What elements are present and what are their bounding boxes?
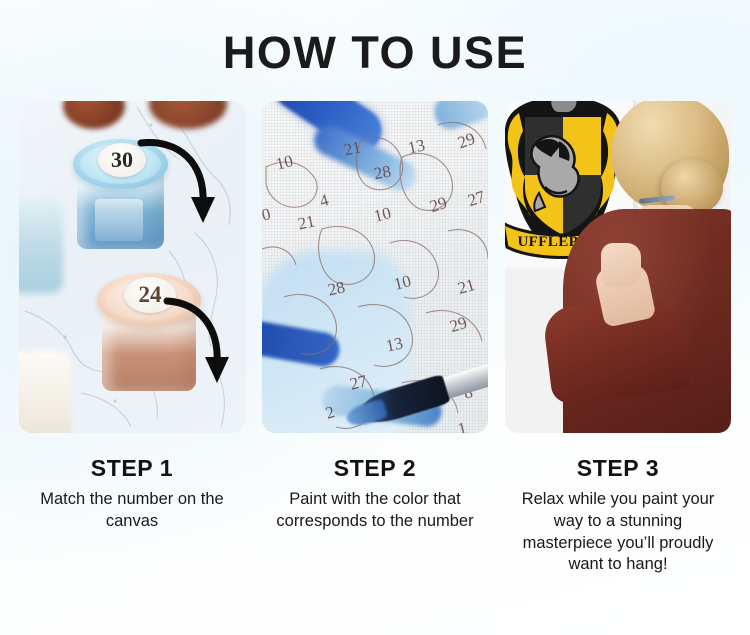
person-hand: [601, 243, 641, 287]
step-2-photo: 10 21 28 13 29 4 10 29 27 21 0 28 10 21 …: [262, 101, 488, 433]
step-3-label: STEP 3: [505, 455, 731, 482]
step-1-label: STEP 1: [19, 455, 245, 482]
blurred-white-pot: [19, 351, 71, 433]
step-card-1: 30 24: [19, 101, 245, 576]
step-3-photo: UFFLEPUFF: [505, 101, 731, 433]
step-2-description: Paint with the color that corresponds to…: [262, 489, 488, 533]
paint-pot-30-number: 30: [111, 147, 133, 173]
step-2-label: STEP 2: [262, 455, 488, 482]
paint-pot-24-label: 24: [124, 277, 176, 313]
step-1-photo: 30 24: [19, 101, 245, 433]
paint-pot-24: 24: [97, 273, 201, 391]
step-1-description: Match the number on the canvas: [19, 489, 245, 533]
step-3-description: Relax while you paint your way to a stun…: [505, 489, 731, 576]
paint-pot-30-label: 30: [98, 143, 146, 177]
steps-row: 30 24: [0, 101, 750, 576]
page-title: HOW TO USE: [0, 0, 750, 75]
step-card-2: 10 21 28 13 29 4 10 29 27 21 0 28 10 21 …: [262, 101, 488, 576]
paint-pot-24-number: 24: [139, 282, 162, 308]
paint-pot-30: 30: [73, 139, 168, 249]
blurred-blue-pot: [19, 197, 63, 293]
canvas-number: 28: [372, 162, 392, 185]
step-card-3: UFFLEPUFF STEP 3 Relax while you paint y…: [505, 101, 731, 576]
paint-pot-30-seam: [95, 199, 143, 241]
brush-tip-paint: [344, 398, 388, 429]
